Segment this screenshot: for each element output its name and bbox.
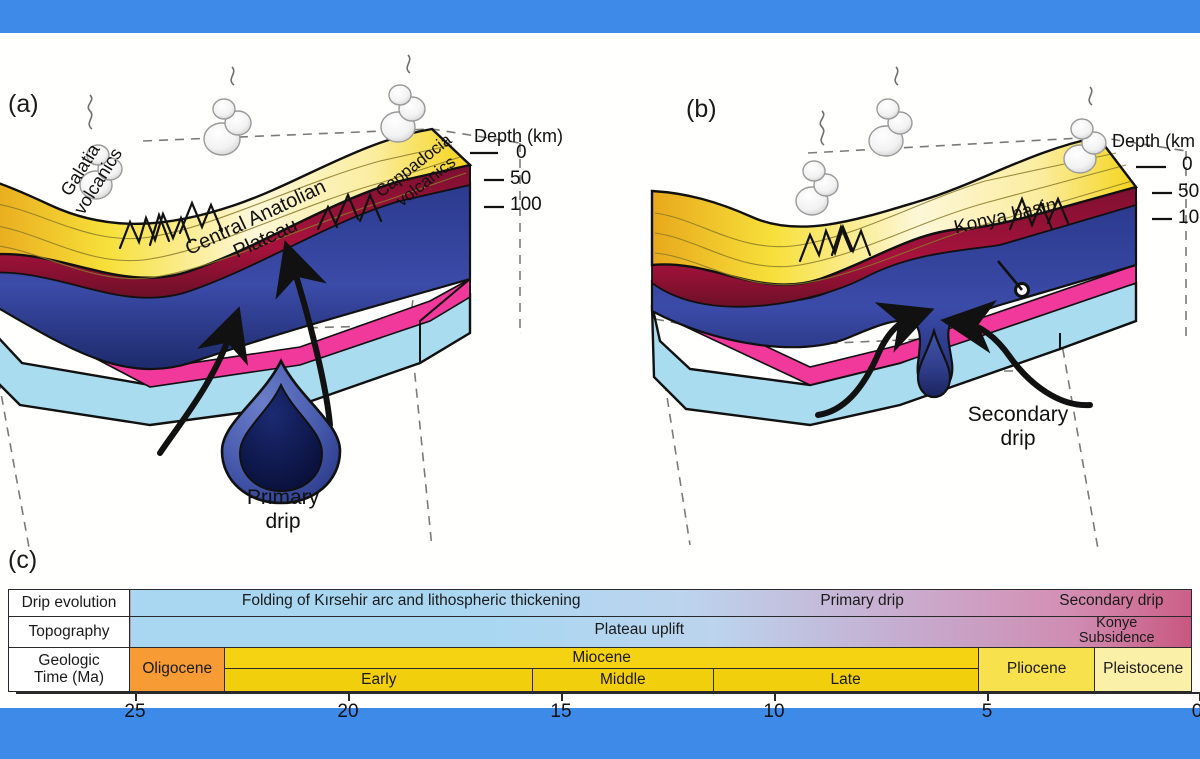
axis-tick-20	[348, 692, 350, 701]
subepoch-early: Early	[225, 669, 533, 692]
annotation-secondary-drip: Secondary drip	[958, 403, 1078, 450]
axis-label-25: 25	[124, 701, 145, 723]
cell-primary-drip: Primary drip	[692, 593, 1032, 609]
axis-label-10: 10	[763, 701, 784, 723]
plume-b2	[869, 67, 912, 156]
plume-b1	[796, 111, 838, 215]
subepoch-late: Late	[713, 669, 978, 692]
depth-tick-b-0: 0	[1182, 154, 1193, 176]
table-row-topography: Topography Plateau uplift Konye Subsiden…	[9, 617, 1192, 648]
cell-plateau-uplift: Plateau uplift	[236, 622, 1042, 638]
axis-label-20: 20	[337, 701, 358, 723]
geologic-timeline-chart: Drip evolution Folding of Kırsehir arc a…	[8, 589, 1192, 734]
panel-a-label: (a)	[8, 90, 39, 119]
epoch-pliocene: Pliocene	[978, 648, 1095, 692]
depth-tick-b-100: 10	[1178, 207, 1199, 229]
table-row-epochs: Geologic Time (Ma) Oligocene Miocene Pli…	[9, 648, 1192, 669]
cell-folding-kirsehir: Folding of Kırsehir arc and lithospheric…	[130, 593, 692, 609]
epoch-pleistocene: Pleistocene	[1095, 648, 1192, 692]
secondary-drip-line2: drip	[958, 427, 1078, 451]
rowhead-geologic-time: Geologic Time (Ma)	[9, 648, 130, 692]
table-row-drip-evolution: Drip evolution Folding of Kırsehir arc a…	[9, 590, 1192, 617]
subepoch-middle: Middle	[533, 669, 713, 692]
cell-konye-subsidence: Konye Subsidence	[1042, 616, 1191, 645]
depth-ticks-b	[1136, 167, 1172, 219]
figure-root: (a) (b) (c) Galatia volcanics Central An…	[0, 0, 1200, 759]
axis-tick-5	[987, 692, 989, 701]
epoch-oligocene: Oligocene	[130, 648, 225, 692]
topography-track: Plateau uplift Konye Subsidence	[130, 617, 1192, 648]
konye-line2: Subsidence	[1042, 631, 1191, 646]
panel-b-label: (b)	[686, 95, 717, 124]
panel-c-label: (c)	[8, 546, 37, 575]
depth-ticks-a	[470, 153, 504, 207]
annotation-primary-drip: Primary drip	[238, 486, 328, 533]
depth-tick-a-50: 50	[510, 168, 531, 190]
axis-label-5: 5	[982, 701, 993, 723]
rowhead-topography: Topography	[9, 617, 130, 648]
axis-tick-25	[135, 692, 137, 701]
konye-line1: Konye	[1042, 616, 1191, 631]
epoch-miocene: Miocene	[225, 648, 978, 669]
depth-tick-a-100: 100	[510, 194, 542, 216]
depth-tick-a-0: 0	[516, 142, 527, 164]
panel-b-block	[652, 67, 1186, 549]
depth-tick-b-50: 50	[1178, 181, 1199, 203]
rowhead-drip-evolution: Drip evolution	[9, 590, 130, 617]
geologic-time-line2: Time (Ma)	[9, 670, 129, 686]
secondary-drip-line1: Secondary	[958, 403, 1078, 427]
primary-drip-line2: drip	[238, 510, 328, 534]
timeline-axis: 25 20 15 10 5 0	[16, 692, 1200, 734]
depth-axis-title-b: Depth (km	[1112, 131, 1195, 152]
axis-label-0: 0	[1192, 701, 1200, 723]
timeline-table: Drip evolution Folding of Kırsehir arc a…	[8, 589, 1192, 692]
axis-tick-15	[561, 692, 563, 701]
geologic-time-line1: Geologic	[9, 653, 129, 669]
primary-drip-line1: Primary	[238, 486, 328, 510]
cell-secondary-drip: Secondary drip	[1032, 593, 1191, 609]
top-banner-band	[0, 0, 1200, 33]
axis-tick-10	[774, 692, 776, 701]
axis-line	[16, 692, 1200, 694]
plume-2	[204, 67, 251, 155]
axis-label-15: 15	[550, 701, 571, 723]
drip-evolution-track: Folding of Kırsehir arc and lithospheric…	[130, 590, 1192, 617]
